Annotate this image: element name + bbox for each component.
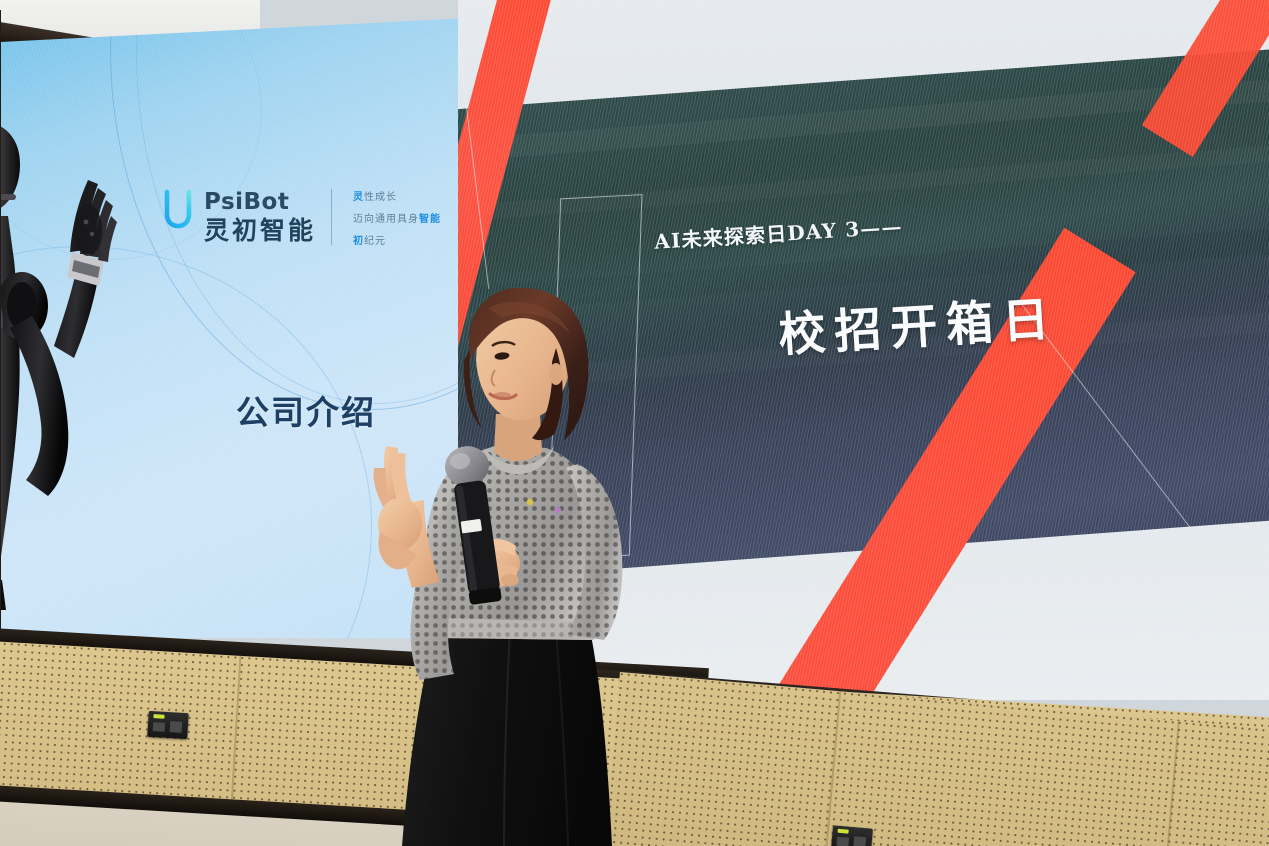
presenter-person (350, 288, 680, 846)
logo-divider (331, 189, 332, 245)
tagline-text: 迈向通用具身 (353, 214, 419, 225)
logo-name-cn: 灵初智能 (204, 219, 316, 244)
panel-seam (1153, 721, 1179, 846)
tagline-line-2: 迈向通用具身智能 (353, 210, 441, 225)
tagline-highlight: 智能 (419, 214, 441, 225)
tagline-line-3: 初纪元 (353, 232, 441, 247)
presentation-photo: PsiBot 灵初智能 灵性成长 迈向通用具身智能 初纪元 公司介绍 (0, 0, 1269, 846)
outlet-socket (836, 837, 849, 846)
outlet-socket (153, 722, 166, 732)
wall-outlet-right[interactable] (831, 825, 873, 846)
tagline-text: 纪元 (364, 236, 386, 247)
logo-name-en: PsiBot (204, 191, 316, 214)
tagline-text: 性成长 (364, 192, 397, 203)
outlet-socket (853, 836, 866, 846)
wall-outlet-left[interactable] (147, 711, 188, 739)
tagline-block: 灵性成长 迈向通用具身智能 初纪元 (353, 188, 441, 247)
tagline-highlight: 灵 (353, 192, 364, 203)
psibot-logo-lockup: PsiBot 灵初智能 灵性成长 迈向通用具身智能 初纪元 (163, 186, 441, 248)
psi-logo-icon (163, 186, 193, 248)
outlet-socket (170, 721, 183, 733)
outlet-indicator-light (837, 829, 848, 834)
tagline-highlight: 初 (353, 236, 364, 247)
panel-seam (815, 691, 841, 846)
screen-bezel-left (0, 10, 1, 650)
tagline-line-1: 灵性成长 (353, 188, 441, 203)
humanoid-robot-image (0, 110, 138, 610)
outlet-indicator-light (153, 714, 164, 719)
